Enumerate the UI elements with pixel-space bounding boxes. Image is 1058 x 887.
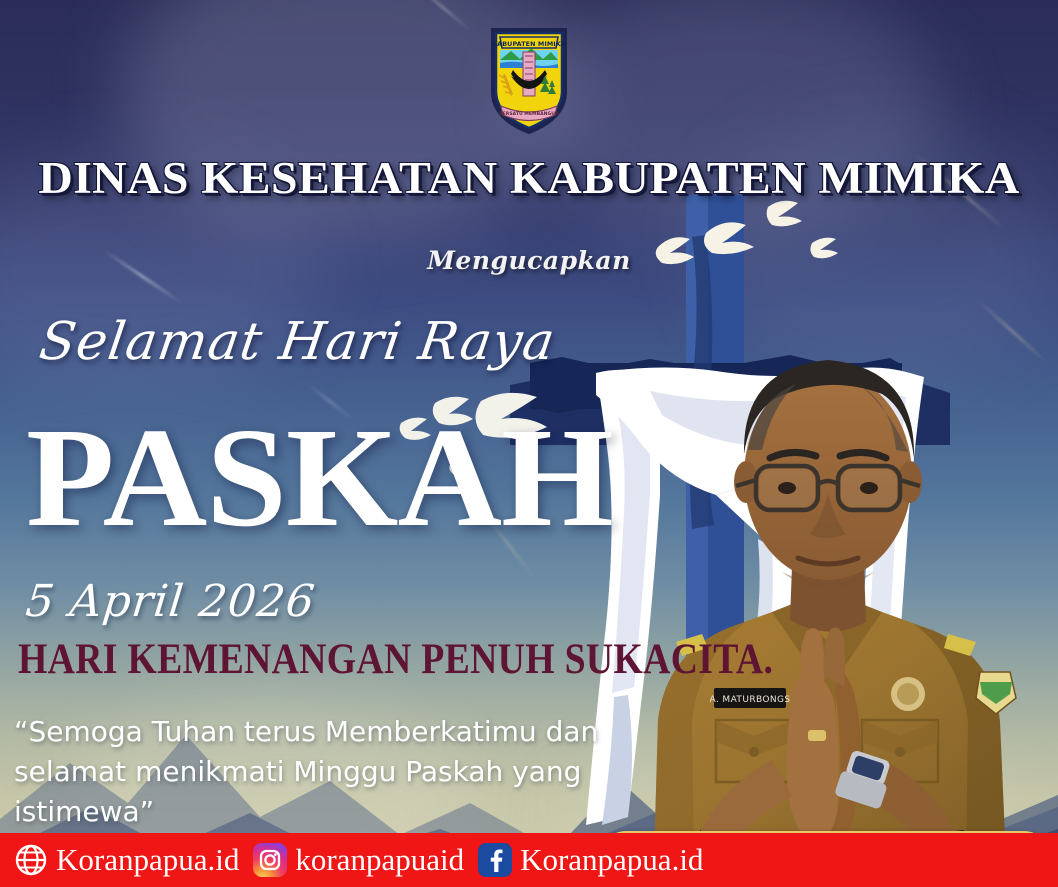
social-link-website[interactable]: Koranpapua.id (14, 842, 239, 878)
website-label: Koranpapua.id (56, 842, 239, 878)
portrait-godfried-maturbongs: A. MATURBONGS (596, 290, 1058, 860)
headline-paskah: PASKAH (26, 406, 613, 548)
greeting-script: Selamat Hari Raya (36, 312, 559, 372)
facebook-icon (478, 843, 512, 877)
svg-text:BERSATU MEMBANGUN: BERSATU MEMBANGUN (499, 111, 559, 117)
light-streak (415, 0, 471, 31)
svg-text:A. MATURBONGS: A. MATURBONGS (709, 695, 790, 705)
svg-text:KABUPATEN MIMIKA: KABUPATEN MIMIKA (492, 40, 566, 48)
social-footer-bar: Koranpapua.id koranpapuaid Koranpapua.id (0, 833, 1058, 887)
facebook-label: Koranpapua.id (520, 842, 703, 878)
instagram-icon (253, 843, 287, 877)
social-link-instagram[interactable]: koranpapuaid (253, 842, 464, 878)
globe-icon (14, 843, 48, 877)
event-date: 5 April 2026 (23, 576, 317, 627)
easter-greeting-poster: A. MATURBONGS (0, 0, 1058, 887)
kabupaten-mimika-emblem-icon: KABUPATEN MIMIKA BERSATU MEMBANGUN (487, 22, 571, 136)
instagram-label: koranpapuaid (295, 842, 464, 878)
page-title: DINAS KESEHATAN KABUPATEN MIMIKA (0, 152, 1058, 204)
blessing-quote: “Semoga Tuhan terus Memberkatimu dan sel… (14, 712, 634, 831)
mengucapkan-label: Mengucapkan (0, 246, 1058, 275)
tagline: HARI KEMENANGAN PENUH SUKACITA. (18, 634, 773, 685)
social-link-facebook[interactable]: Koranpapua.id (478, 842, 703, 878)
